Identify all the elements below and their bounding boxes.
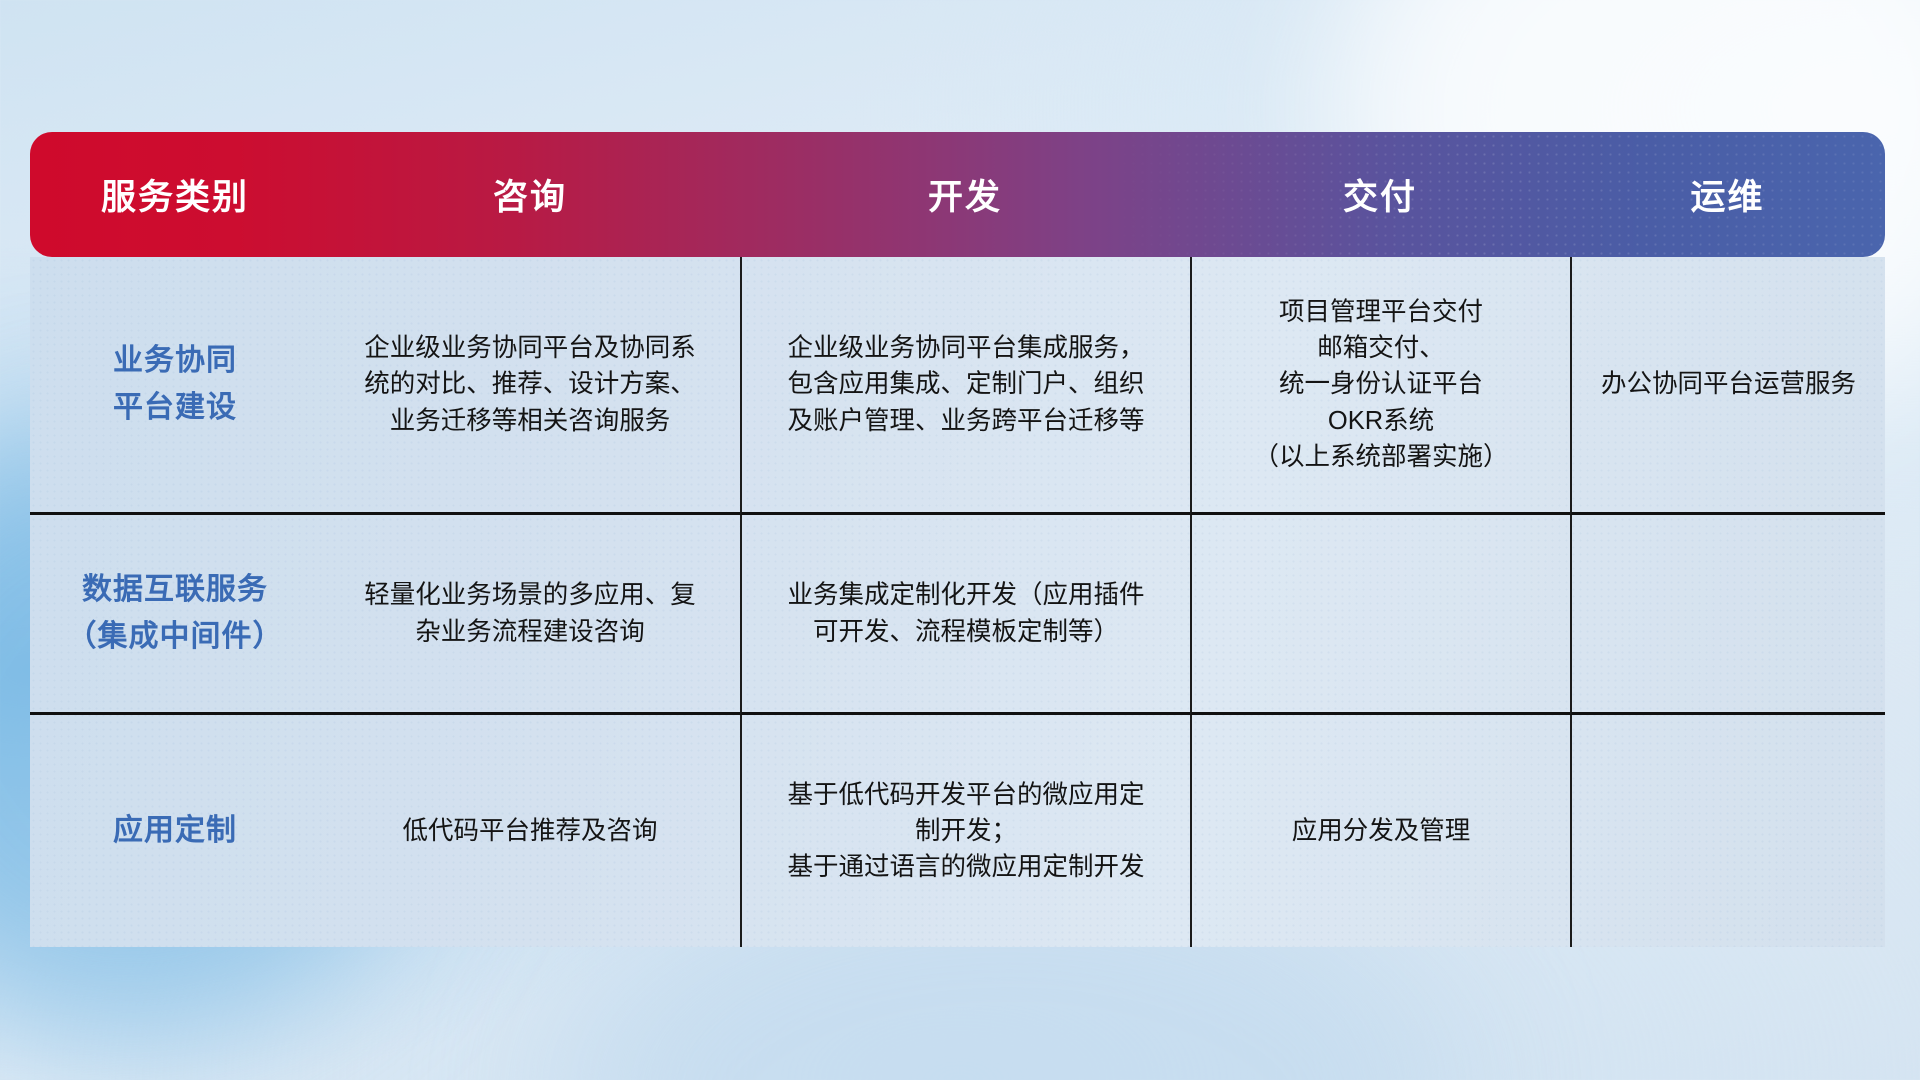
cell-operations: 办公协同平台运营服务 (1570, 257, 1885, 515)
row-category-label: 数据互联服务 （集成中间件） (30, 515, 320, 715)
cell-consulting: 轻量化业务场景的多应用、复 杂业务流程建设咨询 (320, 515, 740, 715)
cell-delivery: 应用分发及管理 (1190, 715, 1570, 947)
table-row: 业务协同 平台建设 企业级业务协同平台及协同系 统的对比、推荐、设计方案、 业务… (30, 257, 1885, 515)
row-category-label: 应用定制 (30, 715, 320, 947)
header-consulting: 咨询 (320, 132, 740, 257)
table-header: 服务类别 咨询 开发 交付 运维 (30, 132, 1885, 257)
row-category-label: 业务协同 平台建设 (30, 257, 320, 515)
slide-canvas: 服务类别 咨询 开发 交付 运维 业务协同 平台建设 企业级业务协同平台及协同系… (0, 0, 1920, 1080)
cell-development: 业务集成定制化开发（应用插件 可开发、流程模板定制等） (740, 515, 1190, 715)
cell-development: 基于低代码开发平台的微应用定 制开发； 基于通过语言的微应用定制开发 (740, 715, 1190, 947)
table-grid: 服务类别 咨询 开发 交付 运维 业务协同 平台建设 企业级业务协同平台及协同系… (30, 132, 1885, 947)
service-matrix-table: 服务类别 咨询 开发 交付 运维 业务协同 平台建设 企业级业务协同平台及协同系… (30, 132, 1885, 947)
cell-delivery: 项目管理平台交付 邮箱交付、 统一身份认证平台 OKR系统 （以上系统部署实施） (1190, 257, 1570, 515)
cell-consulting: 企业级业务协同平台及协同系 统的对比、推荐、设计方案、 业务迁移等相关咨询服务 (320, 257, 740, 515)
table-row: 数据互联服务 （集成中间件） 轻量化业务场景的多应用、复 杂业务流程建设咨询 业… (30, 515, 1885, 715)
table-row: 应用定制 低代码平台推荐及咨询 基于低代码开发平台的微应用定 制开发； 基于通过… (30, 715, 1885, 947)
table-header-row: 服务类别 咨询 开发 交付 运维 (30, 132, 1885, 257)
header-service-category: 服务类别 (30, 132, 320, 257)
cell-operations (1570, 515, 1885, 715)
cell-operations (1570, 715, 1885, 947)
header-development: 开发 (740, 132, 1190, 257)
table-body: 业务协同 平台建设 企业级业务协同平台及协同系 统的对比、推荐、设计方案、 业务… (30, 257, 1885, 947)
cell-development: 企业级业务协同平台集成服务， 包含应用集成、定制门户、组织 及账户管理、业务跨平… (740, 257, 1190, 515)
cell-delivery (1190, 515, 1570, 715)
header-delivery: 交付 (1190, 132, 1570, 257)
header-operations: 运维 (1570, 132, 1885, 257)
cell-consulting: 低代码平台推荐及咨询 (320, 715, 740, 947)
